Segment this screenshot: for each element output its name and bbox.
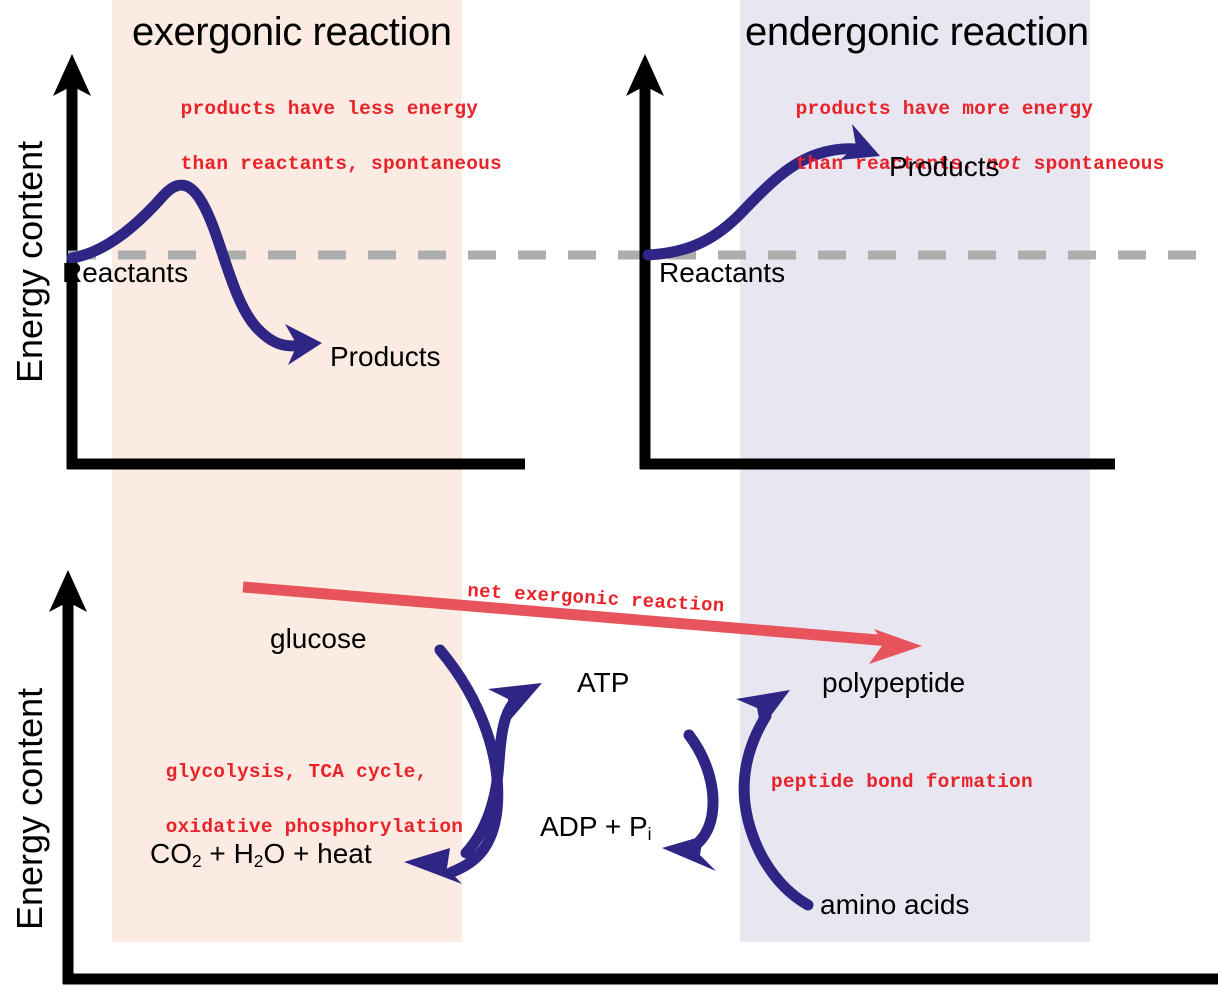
endergonic-caption-line1: products have more energy (796, 98, 1094, 120)
endergonic-title: endergonic reaction (745, 12, 1089, 52)
exergonic-caption: products have less energy than reactants… (133, 68, 502, 206)
endergonic-caption-line2-b: spontaneous (1022, 153, 1165, 175)
y-axis-label-bottom: Energy content (12, 688, 48, 930)
endergonic-caption: products have more energy than reactants… (748, 68, 1165, 206)
glucose-label: glucose (270, 625, 367, 653)
exergonic-products-label: Products (330, 343, 441, 371)
adp-pi-sub: i (648, 824, 652, 844)
adp-pi-main: ADP + P (540, 811, 648, 842)
atp-label: ATP (577, 669, 629, 697)
exergonic-caption-line2: than reactants, spontaneous (181, 153, 502, 175)
catabolism-annotation-line1: glycolysis, TCA cycle, (166, 761, 428, 783)
atp-consuming-arrow-down (662, 735, 716, 871)
catabolism-annotation-line2: oxidative phosphorylation (166, 816, 464, 838)
exergonic-title: exergonic reaction (132, 12, 452, 52)
endergonic-products-label: Products (889, 153, 1000, 181)
catabolism-annotation: glycolysis, TCA cycle, oxidative phospho… (118, 731, 463, 869)
exergonic-reactants-label: Reactants (62, 259, 188, 287)
amino-acids-label: amino acids (820, 891, 969, 919)
polypeptide-label: polypeptide (822, 669, 965, 697)
y-axis-label-top: Energy content (12, 141, 48, 383)
adp-pi-label: ADP + Pi (540, 813, 652, 843)
peptide-bond-annotation: peptide bond formation (771, 769, 1033, 797)
figure-canvas: exergonic reaction products have less en… (0, 0, 1218, 991)
endergonic-reactants-label: Reactants (659, 259, 785, 287)
exergonic-caption-line1: products have less energy (181, 98, 479, 120)
